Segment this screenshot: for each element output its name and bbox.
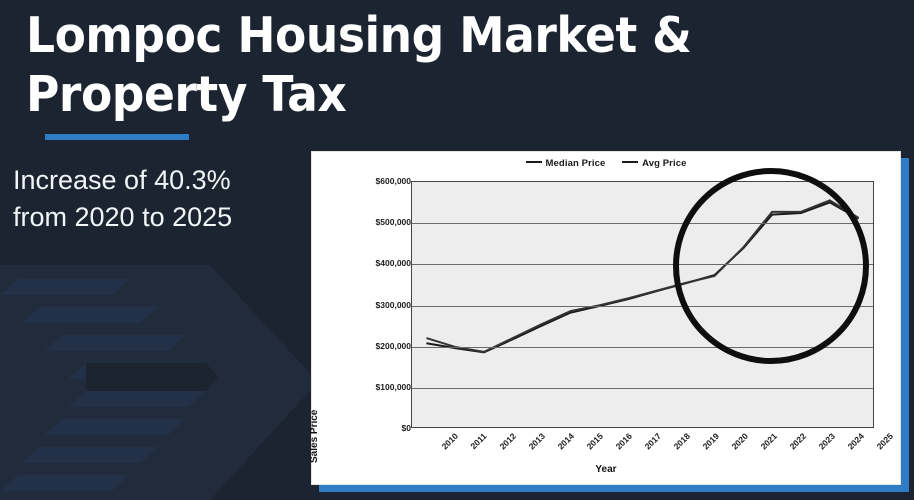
legend-swatch-avg: [622, 161, 638, 163]
slide-canvas: Lompoc Housing Market & Property Tax Inc…: [0, 0, 914, 500]
chevron-decoration: [0, 265, 320, 500]
gridline: [412, 388, 873, 389]
legend-swatch-median: [526, 161, 542, 163]
x-tick-label: 2015: [585, 431, 605, 451]
x-tick-label: 2017: [643, 431, 663, 451]
legend-label-median: Median Price: [546, 158, 606, 169]
title-accent-rule: [45, 134, 189, 140]
x-tick-label: 2011: [469, 431, 489, 451]
highlight-circle-annotation: [673, 168, 869, 364]
x-tick-label: 2022: [787, 431, 807, 451]
x-tick-label: 2024: [845, 431, 865, 451]
legend-item-avg: Avg Price: [622, 158, 686, 169]
chevron-decoration-svg: [0, 265, 320, 500]
x-tick-label: 2010: [440, 431, 460, 451]
x-tick-label: 2019: [700, 431, 720, 451]
legend-label-avg: Avg Price: [642, 158, 686, 169]
x-tick-label: 2014: [556, 431, 576, 451]
x-tick-label: 2013: [527, 431, 547, 451]
x-axis-title: Year: [312, 464, 900, 475]
page-title: Lompoc Housing Market & Property Tax: [26, 6, 770, 124]
x-tick-label: 2025: [874, 431, 894, 451]
legend-item-median: Median Price: [526, 158, 606, 169]
y-tick-label: $100,000: [347, 382, 411, 392]
x-tick-label: 2018: [672, 431, 692, 451]
x-tick-label: 2020: [729, 431, 749, 451]
y-tick-label: $500,000: [347, 217, 411, 227]
y-tick-label: $200,000: [347, 341, 411, 351]
x-tick-label: 2016: [614, 431, 634, 451]
y-tick-label: $300,000: [347, 300, 411, 310]
x-tick-label: 2012: [498, 431, 518, 451]
x-tick-label: 2021: [758, 431, 778, 451]
y-tick-label: $0: [347, 423, 411, 433]
x-tick-label: 2023: [816, 431, 836, 451]
y-axis-title: Sales Price: [309, 410, 320, 463]
y-axis-tick-labels: $0$100,000$200,000$300,000$400,000$500,0…: [347, 152, 411, 486]
subtitle-text: Increase of 40.3% from 2020 to 2025: [13, 162, 313, 236]
y-tick-label: $600,000: [347, 176, 411, 186]
y-tick-label: $400,000: [347, 258, 411, 268]
